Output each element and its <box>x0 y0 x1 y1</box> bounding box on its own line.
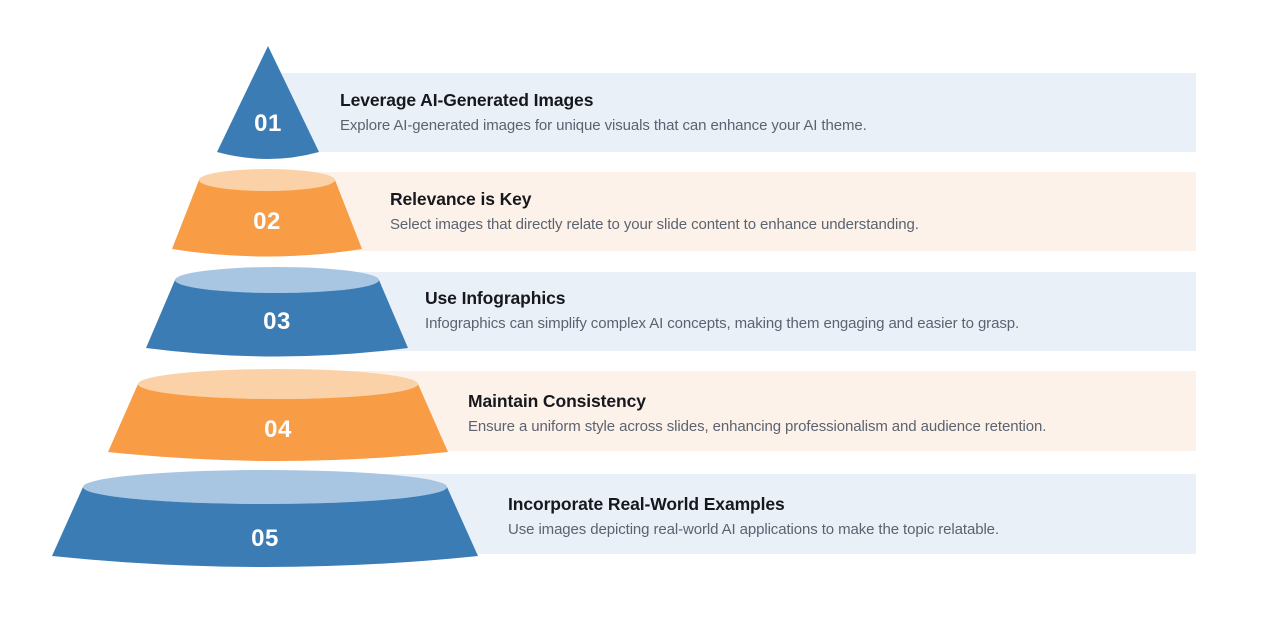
step-title-1: Leverage AI-Generated Images <box>340 90 867 111</box>
step-text-1: Leverage AI-Generated Images Explore AI-… <box>340 90 867 134</box>
cone-slice-1 <box>217 46 319 159</box>
cone-top-5 <box>83 470 447 504</box>
cone-body-2 <box>172 180 362 257</box>
step-description-1: Explore AI-generated images for unique v… <box>340 117 867 134</box>
step-text-5: Incorporate Real-World Examples Use imag… <box>508 494 999 538</box>
step-title-2: Relevance is Key <box>390 189 919 210</box>
step-title-5: Incorporate Real-World Examples <box>508 494 999 515</box>
cone-top-3 <box>175 267 379 293</box>
cone-slice-5 <box>52 470 478 567</box>
cone-slice-4 <box>108 369 448 461</box>
step-description-3: Infographics can simplify complex AI con… <box>425 315 1019 332</box>
step-text-2: Relevance is Key Select images that dire… <box>390 189 919 233</box>
step-text-4: Maintain Consistency Ensure a uniform st… <box>468 391 1046 435</box>
infographic-canvas: 01 02 03 04 05 Leverage AI-Generated Ima… <box>0 0 1268 620</box>
step-description-4: Ensure a uniform style across slides, en… <box>468 418 1046 435</box>
cone-body-1 <box>217 46 319 159</box>
step-description-5: Use images depicting real-world AI appli… <box>508 521 999 538</box>
cone-top-2 <box>199 169 335 191</box>
step-text-3: Use Infographics Infographics can simpli… <box>425 288 1019 332</box>
step-title-3: Use Infographics <box>425 288 1019 309</box>
step-title-4: Maintain Consistency <box>468 391 1046 412</box>
cone-top-4 <box>138 369 418 399</box>
step-description-2: Select images that directly relate to yo… <box>390 216 919 233</box>
cone-slice-3 <box>146 267 408 357</box>
cone-slice-2 <box>172 169 362 257</box>
